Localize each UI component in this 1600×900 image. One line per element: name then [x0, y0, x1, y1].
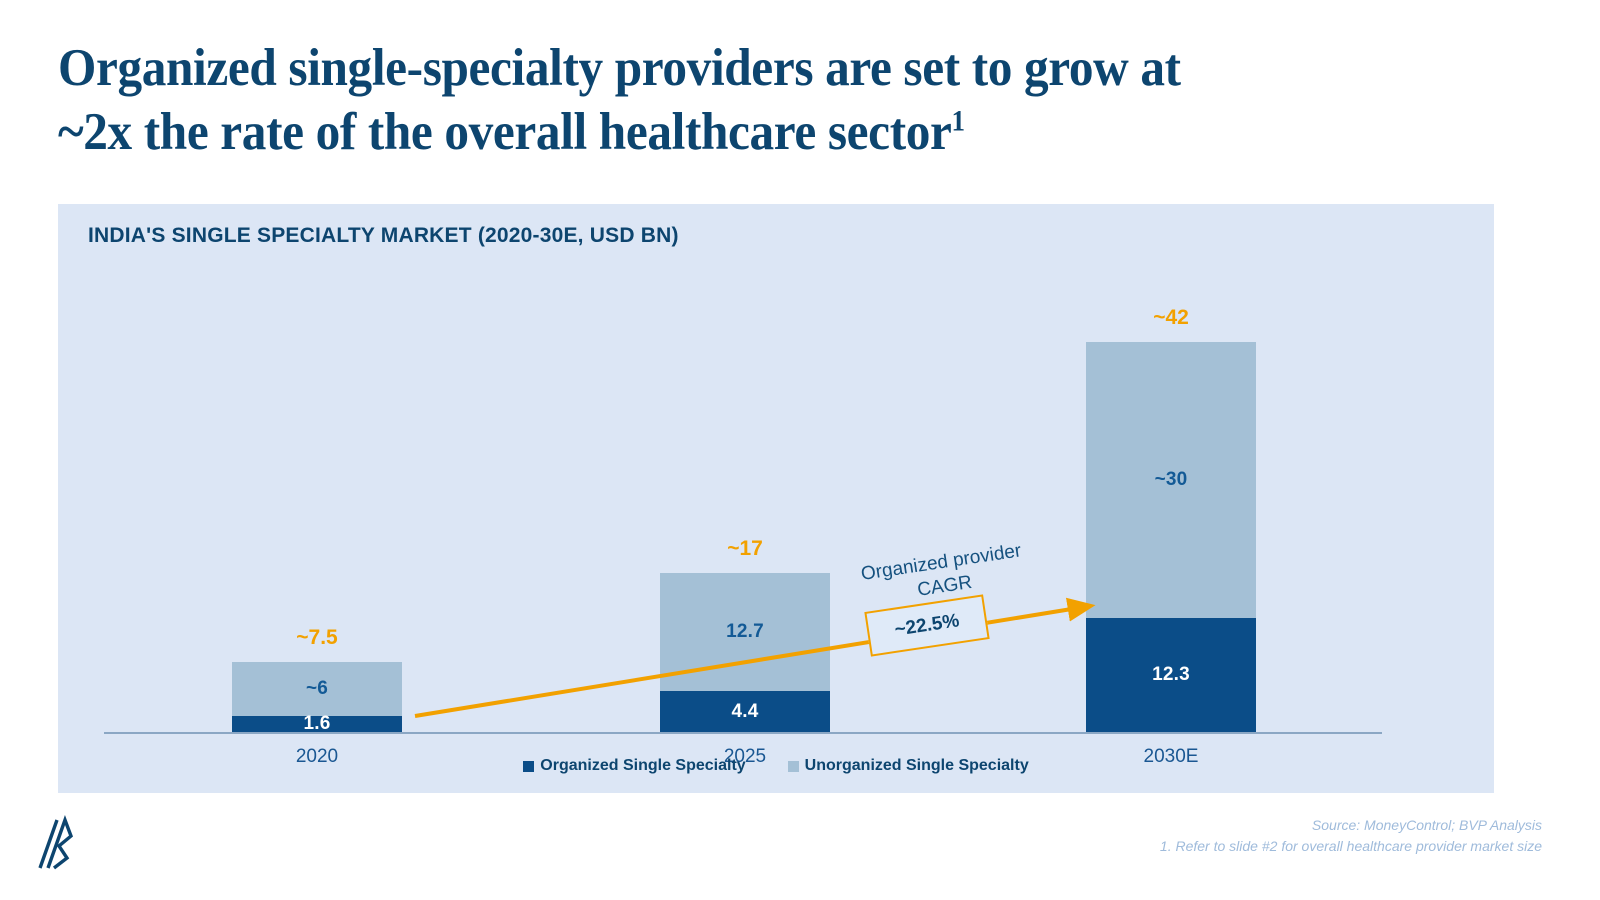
bar-segment-unorganized-2030e[interactable]: ~30	[1086, 342, 1256, 618]
bar-segment-label-unorganized-2030e: ~30	[1155, 469, 1188, 491]
bar-group-2025[interactable]: ~17 12.7 4.4 2025	[660, 573, 830, 732]
page-title-line-2: ~2x the rate of the overall healthcare s…	[58, 103, 952, 161]
page-title: Organized single-specialty providers are…	[58, 36, 1360, 164]
bar-segment-label-organized-2020: 1.6	[303, 713, 330, 735]
plot-area: ~7.5 ~6 1.6 2020 ~17 12.7 4.4 2025 ~42 ~…	[58, 204, 1494, 793]
bar-group-2020[interactable]: ~7.5 ~6 1.6 2020	[232, 662, 402, 732]
footnote-note-1: 1. Refer to slide #2 for overall healthc…	[1160, 836, 1542, 857]
bar-segment-unorganized-2025[interactable]: 12.7	[660, 573, 830, 691]
bar-group-2030e[interactable]: ~42 ~30 12.3 2030E	[1086, 342, 1256, 732]
bar-segment-organized-2030e[interactable]: 12.3	[1086, 618, 1256, 732]
x-axis-line	[104, 732, 1382, 734]
bar-segment-label-unorganized-2020: ~6	[306, 678, 328, 700]
bar-segment-label-unorganized-2025: 12.7	[726, 621, 764, 643]
bar-segment-organized-2025[interactable]: 4.4	[660, 691, 830, 732]
chart-panel: INDIA'S SINGLE SPECIALTY MARKET (2020-30…	[58, 204, 1494, 793]
legend-label-organized: Organized Single Specialty	[540, 757, 745, 775]
legend-swatch-organized-icon	[523, 761, 534, 772]
page-title-footnote-marker: 1	[952, 105, 965, 137]
legend-swatch-unorganized-icon	[788, 761, 799, 772]
legend-label-unorganized: Unorganized Single Specialty	[805, 757, 1029, 775]
page-title-line-1: Organized single-specialty providers are…	[58, 39, 1181, 97]
bar-total-label-2020: ~7.5	[232, 626, 402, 650]
bvp-logo-icon	[24, 812, 80, 874]
footnotes: Source: MoneyControl; BVP Analysis 1. Re…	[1160, 815, 1542, 857]
cagr-value-label: ~22.5%	[893, 610, 961, 641]
bar-segment-organized-2020[interactable]: 1.6	[232, 716, 402, 732]
bar-segment-unorganized-2020[interactable]: ~6	[232, 662, 402, 716]
bar-total-label-2025: ~17	[660, 537, 830, 561]
bar-segment-label-organized-2030e: 12.3	[1152, 664, 1190, 686]
chart-legend: Organized Single Specialty Unorganized S…	[58, 757, 1494, 775]
bar-segment-label-organized-2025: 4.4	[731, 701, 758, 723]
footnote-source: Source: MoneyControl; BVP Analysis	[1160, 815, 1542, 836]
bar-total-label-2030e: ~42	[1086, 306, 1256, 330]
legend-item-organized[interactable]: Organized Single Specialty	[523, 757, 745, 775]
legend-item-unorganized[interactable]: Unorganized Single Specialty	[788, 757, 1029, 775]
